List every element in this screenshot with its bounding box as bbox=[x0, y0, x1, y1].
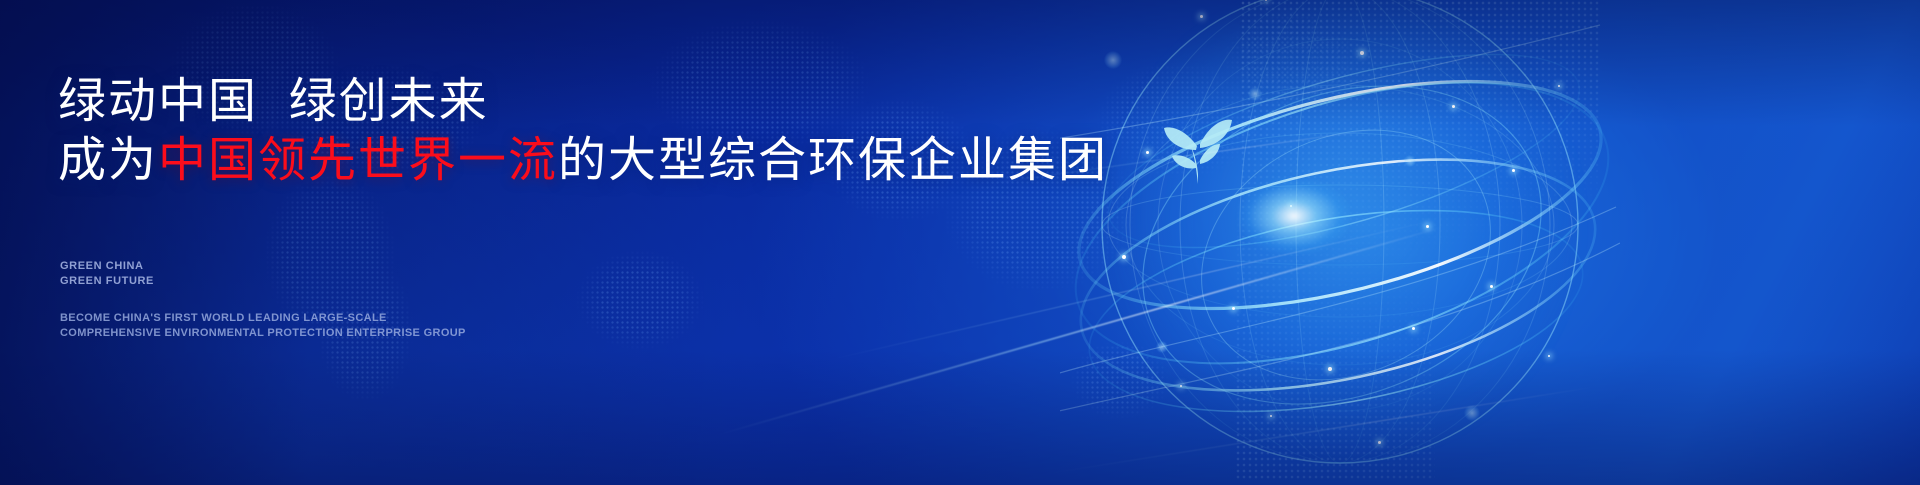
globe-core-flare bbox=[1238, 178, 1350, 254]
hex-dot-texture-secondary-icon bbox=[1235, 150, 1435, 480]
particle bbox=[1412, 327, 1415, 330]
vignette-overlay bbox=[0, 0, 1920, 485]
headline-secondary-suffix: 的大型综合环保企业集团 bbox=[558, 134, 1108, 187]
particle bbox=[1490, 285, 1493, 288]
particle bbox=[1360, 51, 1364, 55]
particle bbox=[1146, 151, 1149, 154]
particle bbox=[1265, 0, 1267, 1]
light-streak bbox=[828, 220, 1432, 360]
dotted-world-map-icon bbox=[0, 0, 1920, 485]
particle bbox=[1200, 15, 1203, 18]
particle bbox=[1270, 415, 1272, 417]
particle bbox=[1378, 441, 1381, 444]
hex-dot-texture-icon bbox=[1240, 0, 1600, 300]
particle bbox=[1558, 85, 1560, 87]
particle bbox=[1328, 367, 1332, 371]
globe-glow bbox=[1100, 0, 1580, 465]
bokeh-particle bbox=[1104, 51, 1122, 69]
particle bbox=[1426, 225, 1429, 228]
particle bbox=[1122, 255, 1126, 259]
particle bbox=[1452, 105, 1455, 108]
headline-secondary-prefix: 成为 bbox=[58, 134, 158, 187]
particle bbox=[1232, 307, 1235, 310]
headline-secondary: 成为中国领先世界一流的大型综合环保企业集团 bbox=[58, 133, 1058, 190]
subtitle-english-line2: GREEN FUTURE bbox=[60, 274, 154, 289]
light-streak bbox=[1043, 386, 1596, 475]
green-sprout-icon bbox=[1162, 110, 1236, 186]
bokeh-particle bbox=[1464, 405, 1480, 421]
headline-block: 绿动中国 绿创未来 成为中国领先世界一流的大型综合环保企业集团 bbox=[58, 74, 1058, 189]
subtitle-english: GREEN CHINA GREEN FUTURE bbox=[60, 259, 154, 288]
description-english-line2: COMPREHENSIVE ENVIRONMENTAL PROTECTION E… bbox=[60, 326, 466, 341]
light-streak bbox=[714, 225, 1445, 436]
headline-primary: 绿动中国 绿创未来 bbox=[58, 74, 1058, 131]
bokeh-particle bbox=[1156, 341, 1168, 353]
particle bbox=[1512, 169, 1515, 172]
particle bbox=[1290, 205, 1292, 207]
subtitle-english-line1: GREEN CHINA bbox=[60, 259, 154, 274]
hero-banner: 绿动中国 绿创未来 成为中国领先世界一流的大型综合环保企业集团 GREEN CH… bbox=[0, 0, 1920, 485]
particle bbox=[1180, 385, 1182, 387]
headline-secondary-accent: 中国领先世界一流 bbox=[158, 134, 558, 187]
description-english: BECOME CHINA'S FIRST WORLD LEADING LARGE… bbox=[60, 311, 466, 340]
bokeh-particle bbox=[1248, 87, 1262, 101]
bokeh-particle bbox=[1404, 155, 1416, 167]
wireframe-globe-icon bbox=[1060, 0, 1620, 485]
globe-graphic bbox=[1060, 0, 1620, 485]
description-english-line1: BECOME CHINA'S FIRST WORLD LEADING LARGE… bbox=[60, 311, 466, 326]
particle bbox=[1548, 355, 1550, 357]
